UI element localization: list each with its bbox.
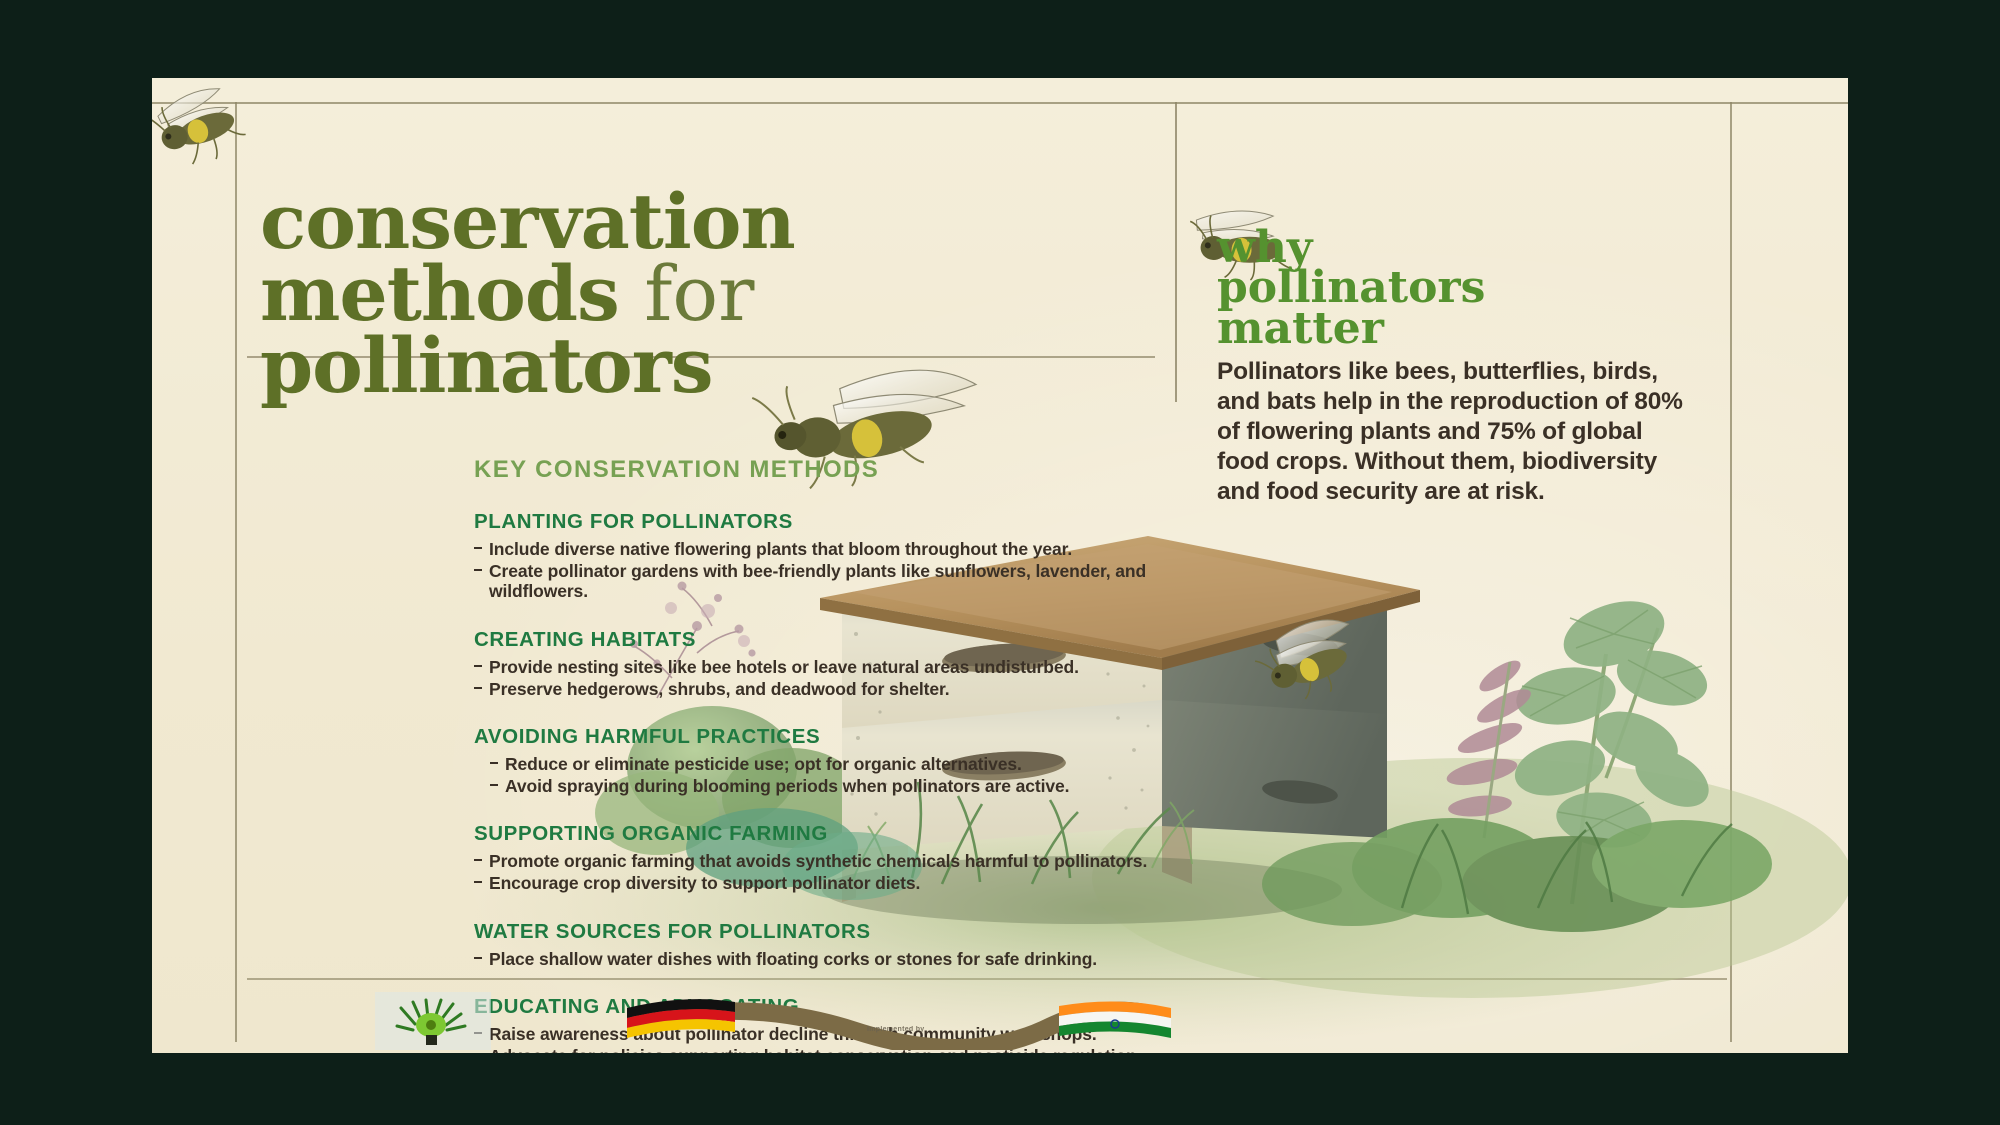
method-section-title: SUPPORTING ORGANIC FARMING [474,822,1234,846]
footer-caption: Implemented by [867,1026,925,1033]
method-section-title: CREATING HABITATS [474,628,1234,652]
method-section: AVOIDING HARMFUL PRACTICESReduce or elim… [474,725,1234,796]
method-section: WATER SOURCES FOR POLLINATORSPlace shall… [474,920,1234,970]
method-bullet-item: Include diverse native flowering plants … [474,539,1234,560]
title-line-2: methods for [260,258,1160,330]
method-section: CREATING HABITATSProvide nesting sites l… [474,628,1234,699]
method-bullet-list: Provide nesting sites like bee hotels or… [474,657,1234,699]
method-bullet-item: Promote organic farming that avoids synt… [474,851,1234,872]
poster-title: conservation methods for pollinators [260,186,1160,403]
footer-logos-row: Implemented by [247,990,1727,1052]
frame-rule-top [152,102,1848,104]
tree-hand-logo [375,992,491,1050]
method-section-title: AVOIDING HARMFUL PRACTICES [474,725,1234,749]
methods-section-header: KEY CONSERVATION METHODS [474,456,1234,484]
why-heading-line-3: matter [1217,309,1687,349]
method-bullet-list: Reduce or eliminate pesticide use; opt f… [474,754,1234,796]
method-section: SUPPORTING ORGANIC FARMINGPromote organi… [474,822,1234,893]
method-bullet-list: Promote organic farming that avoids synt… [474,851,1234,893]
method-bullet-list: Include diverse native flowering plants … [474,539,1234,602]
method-section-title: WATER SOURCES FOR POLLINATORS [474,920,1234,944]
method-bullet-item: Place shallow water dishes with floating… [474,949,1234,970]
bee-top-left [152,78,292,170]
method-section-title: PLANTING FOR POLLINATORS [474,510,1234,534]
why-pollinators-matter-block: why pollinators matter Pollinators like … [1217,228,1687,507]
method-bullet-item: Create pollinator gardens with bee-frien… [474,561,1234,602]
why-heading: why pollinators matter [1217,228,1687,349]
key-conservation-methods-block: KEY CONSERVATION METHODS PLANTING FOR PO… [474,456,1234,1053]
plant-right [1444,589,1718,904]
why-body-text: Pollinators like bees, butterflies, bird… [1217,357,1687,506]
germany-india-flag-ribbon [619,994,1179,1050]
frame-rule-left [235,102,237,1042]
bee-over-hive [1242,606,1392,706]
infographic-canvas: conservation methods for pollinators why… [0,0,2000,1125]
title-line-3: pollinators [260,330,1160,402]
method-section: PLANTING FOR POLLINATORSInclude diverse … [474,510,1234,602]
method-bullet-item: Encourage crop diversity to support poll… [474,873,1234,894]
frame-rule-right [1730,102,1732,1042]
column-divider-rule [1175,102,1177,402]
poster-sheet: conservation methods for pollinators why… [152,78,1848,1053]
methods-sections-list: PLANTING FOR POLLINATORSInclude diverse … [474,510,1234,1053]
title-line-1: conservation [260,186,1160,258]
method-bullet-item: Preserve hedgerows, shrubs, and deadwood… [474,679,1234,700]
method-bullet-item: Reduce or eliminate pesticide use; opt f… [490,754,1234,775]
method-bullet-item: Provide nesting sites like bee hotels or… [474,657,1234,678]
method-bullet-list: Place shallow water dishes with floating… [474,949,1234,970]
method-bullet-item: Avoid spraying during blooming periods w… [490,776,1234,797]
